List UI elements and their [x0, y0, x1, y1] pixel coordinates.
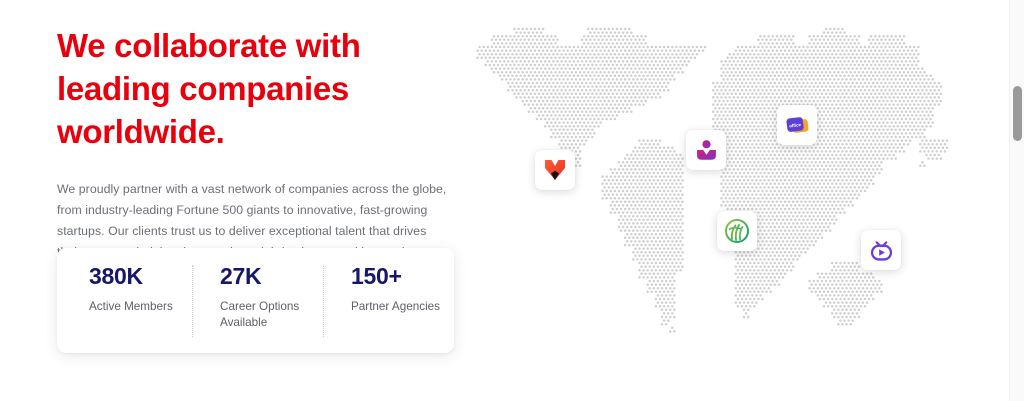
stat-item-active-members: 380K Active Members	[61, 265, 192, 337]
marker-globe-logo[interactable]	[717, 211, 757, 251]
scrollbar-thumb[interactable]	[1013, 86, 1022, 141]
stat-item-partner-agencies: 150+ Partner Agencies	[323, 265, 454, 337]
stat-value: 27K	[220, 265, 309, 288]
marker-tv-logo[interactable]	[861, 230, 901, 270]
purple-tv-icon	[869, 238, 894, 263]
stat-label: Active Members	[89, 299, 178, 316]
page-scrollbar[interactable]	[1009, 0, 1024, 401]
green-globe-icon	[724, 218, 750, 244]
stats-card: 380K Active Members 27K Career Options A…	[57, 248, 454, 353]
dotted-world-map-canvas	[455, 20, 1000, 380]
stat-label: Partner Agencies	[351, 299, 440, 316]
fox-logo-icon	[542, 157, 568, 183]
stat-label: Career Options Available	[220, 299, 309, 333]
stat-value: 150+	[351, 265, 440, 288]
person-book-icon	[694, 138, 719, 163]
marker-office-logo[interactable]: office	[777, 105, 817, 145]
page-title: We collaborate with leading companies wo…	[57, 25, 387, 154]
marker-fox-logo[interactable]	[535, 150, 575, 190]
stat-value: 380K	[89, 265, 178, 288]
office-cards-icon: office	[784, 112, 811, 139]
hero-text-column: We collaborate with leading companies wo…	[57, 25, 457, 263]
partners-hero-section: We collaborate with leading companies wo…	[0, 0, 1024, 401]
marker-person-logo[interactable]	[686, 130, 726, 170]
world-map	[455, 20, 1000, 380]
stat-item-career-options: 27K Career Options Available	[192, 265, 323, 337]
